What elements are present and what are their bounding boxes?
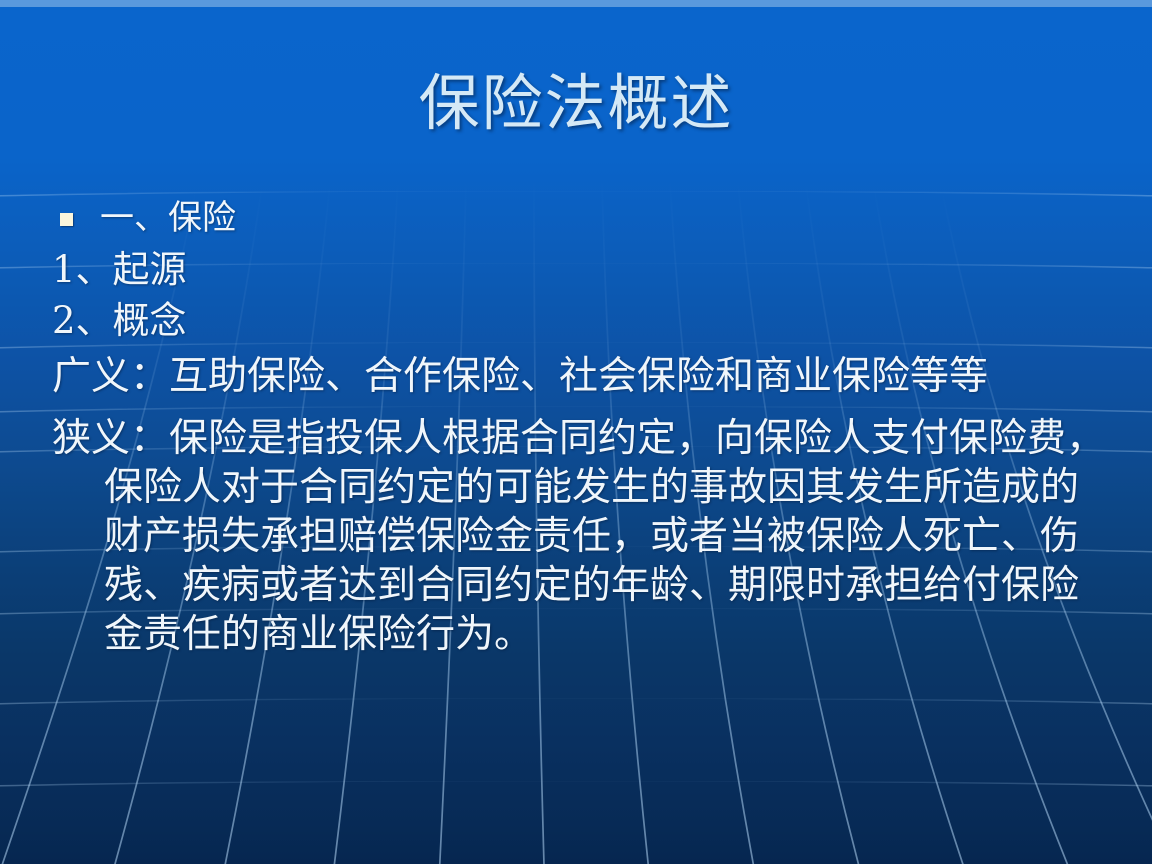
bullet-list-item-heading: 一、保险: [52, 194, 1114, 242]
heading-text: 一、保险: [100, 198, 236, 238]
definition-broad: 广义：互助保险、合作保险、社会保险和商业保险等等: [52, 352, 1114, 401]
presentation-slide: 保险法概述 一、保险 1、起源 2、概念 广义：互助保险、合作保险、社会保险和商…: [0, 0, 1152, 864]
square-bullet-icon: [60, 213, 73, 226]
slide-title: 保险法概述: [0, 68, 1152, 140]
list-item-concept: 2、概念: [52, 295, 1114, 346]
list-item-origin: 1、起源: [52, 244, 1114, 295]
definition-narrow: 狭义：保险是指投保人根据合同约定，向保险人支付保险费，保险人对于合同约定的可能发…: [52, 414, 1114, 659]
slide-body: 一、保险 1、起源 2、概念 广义：互助保险、合作保险、社会保险和商业保险等等 …: [52, 194, 1114, 659]
